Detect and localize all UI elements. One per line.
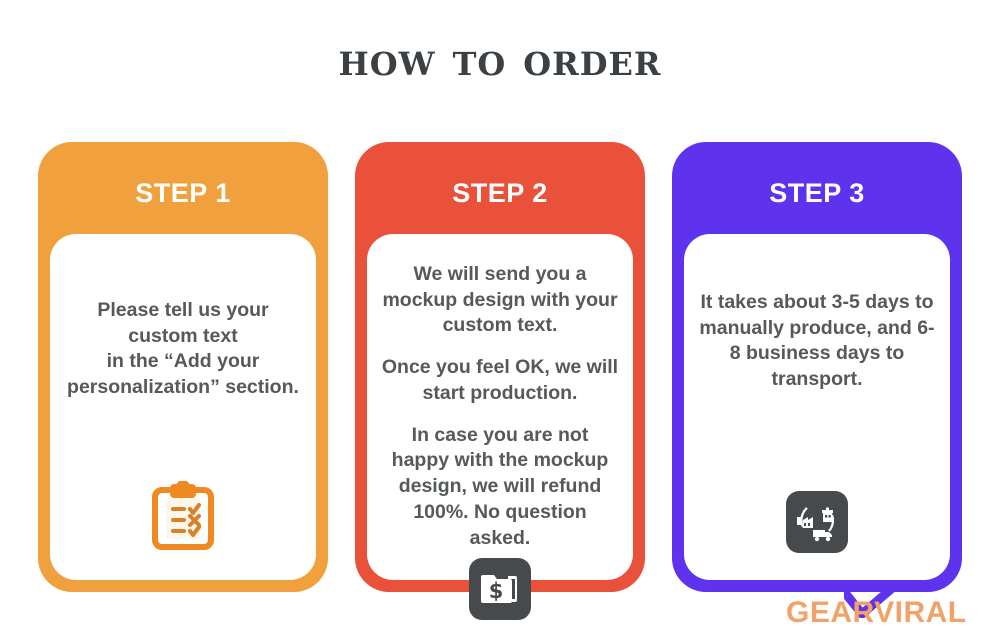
step-card-1-text: Please tell us your custom textin the “A… (64, 256, 302, 480)
clipboard-checklist-icon (151, 481, 215, 556)
paragraph: We will send you a mockup design with yo… (381, 262, 619, 339)
supply-chain-logistics-icon (786, 491, 848, 553)
watermark-text: GEARVIRAL (786, 598, 967, 628)
step-card-3-label: STEP 3 (769, 180, 865, 207)
step-card-3-icon-slot (786, 484, 848, 560)
paragraph: It takes about 3-5 days to manually prod… (698, 290, 936, 393)
step-card-1-label: STEP 1 (135, 180, 231, 207)
steps-container: STEP 1 Please tell us your custom textin… (38, 142, 962, 592)
paragraph: Once you feel OK, we will start producti… (381, 355, 619, 406)
paragraph: Please tell us your custom textin the “A… (64, 298, 302, 401)
infographic-page: How to Order STEP 1 Please tell us your … (0, 0, 1000, 642)
page-title: How to Order (0, 34, 1000, 85)
step-card-1: STEP 1 Please tell us your custom textin… (38, 142, 328, 592)
step-card-2-icon-slot: $ (469, 551, 531, 627)
step-card-3-panel: It takes about 3-5 days to manually prod… (684, 234, 950, 580)
step-card-1-icon-slot (151, 480, 215, 556)
step-card-1-panel: Please tell us your custom textin the “A… (50, 234, 316, 580)
paragraph: In case you are not happy with the mocku… (381, 423, 619, 552)
step-card-2-label: STEP 2 (452, 180, 548, 207)
step-card-3: STEP 3 It takes about 3-5 days to manual… (672, 142, 962, 592)
step-card-2-text: We will send you a mockup design with yo… (381, 256, 619, 551)
step-card-2: STEP 2 We will send you a mockup design … (355, 142, 645, 592)
money-folder-icon: $ (469, 558, 531, 620)
step-card-3-text: It takes about 3-5 days to manually prod… (698, 256, 936, 484)
step-card-2-panel: We will send you a mockup design with yo… (367, 234, 633, 580)
svg-text:$: $ (489, 579, 504, 603)
watermark: GEARVIRAL (786, 586, 986, 634)
